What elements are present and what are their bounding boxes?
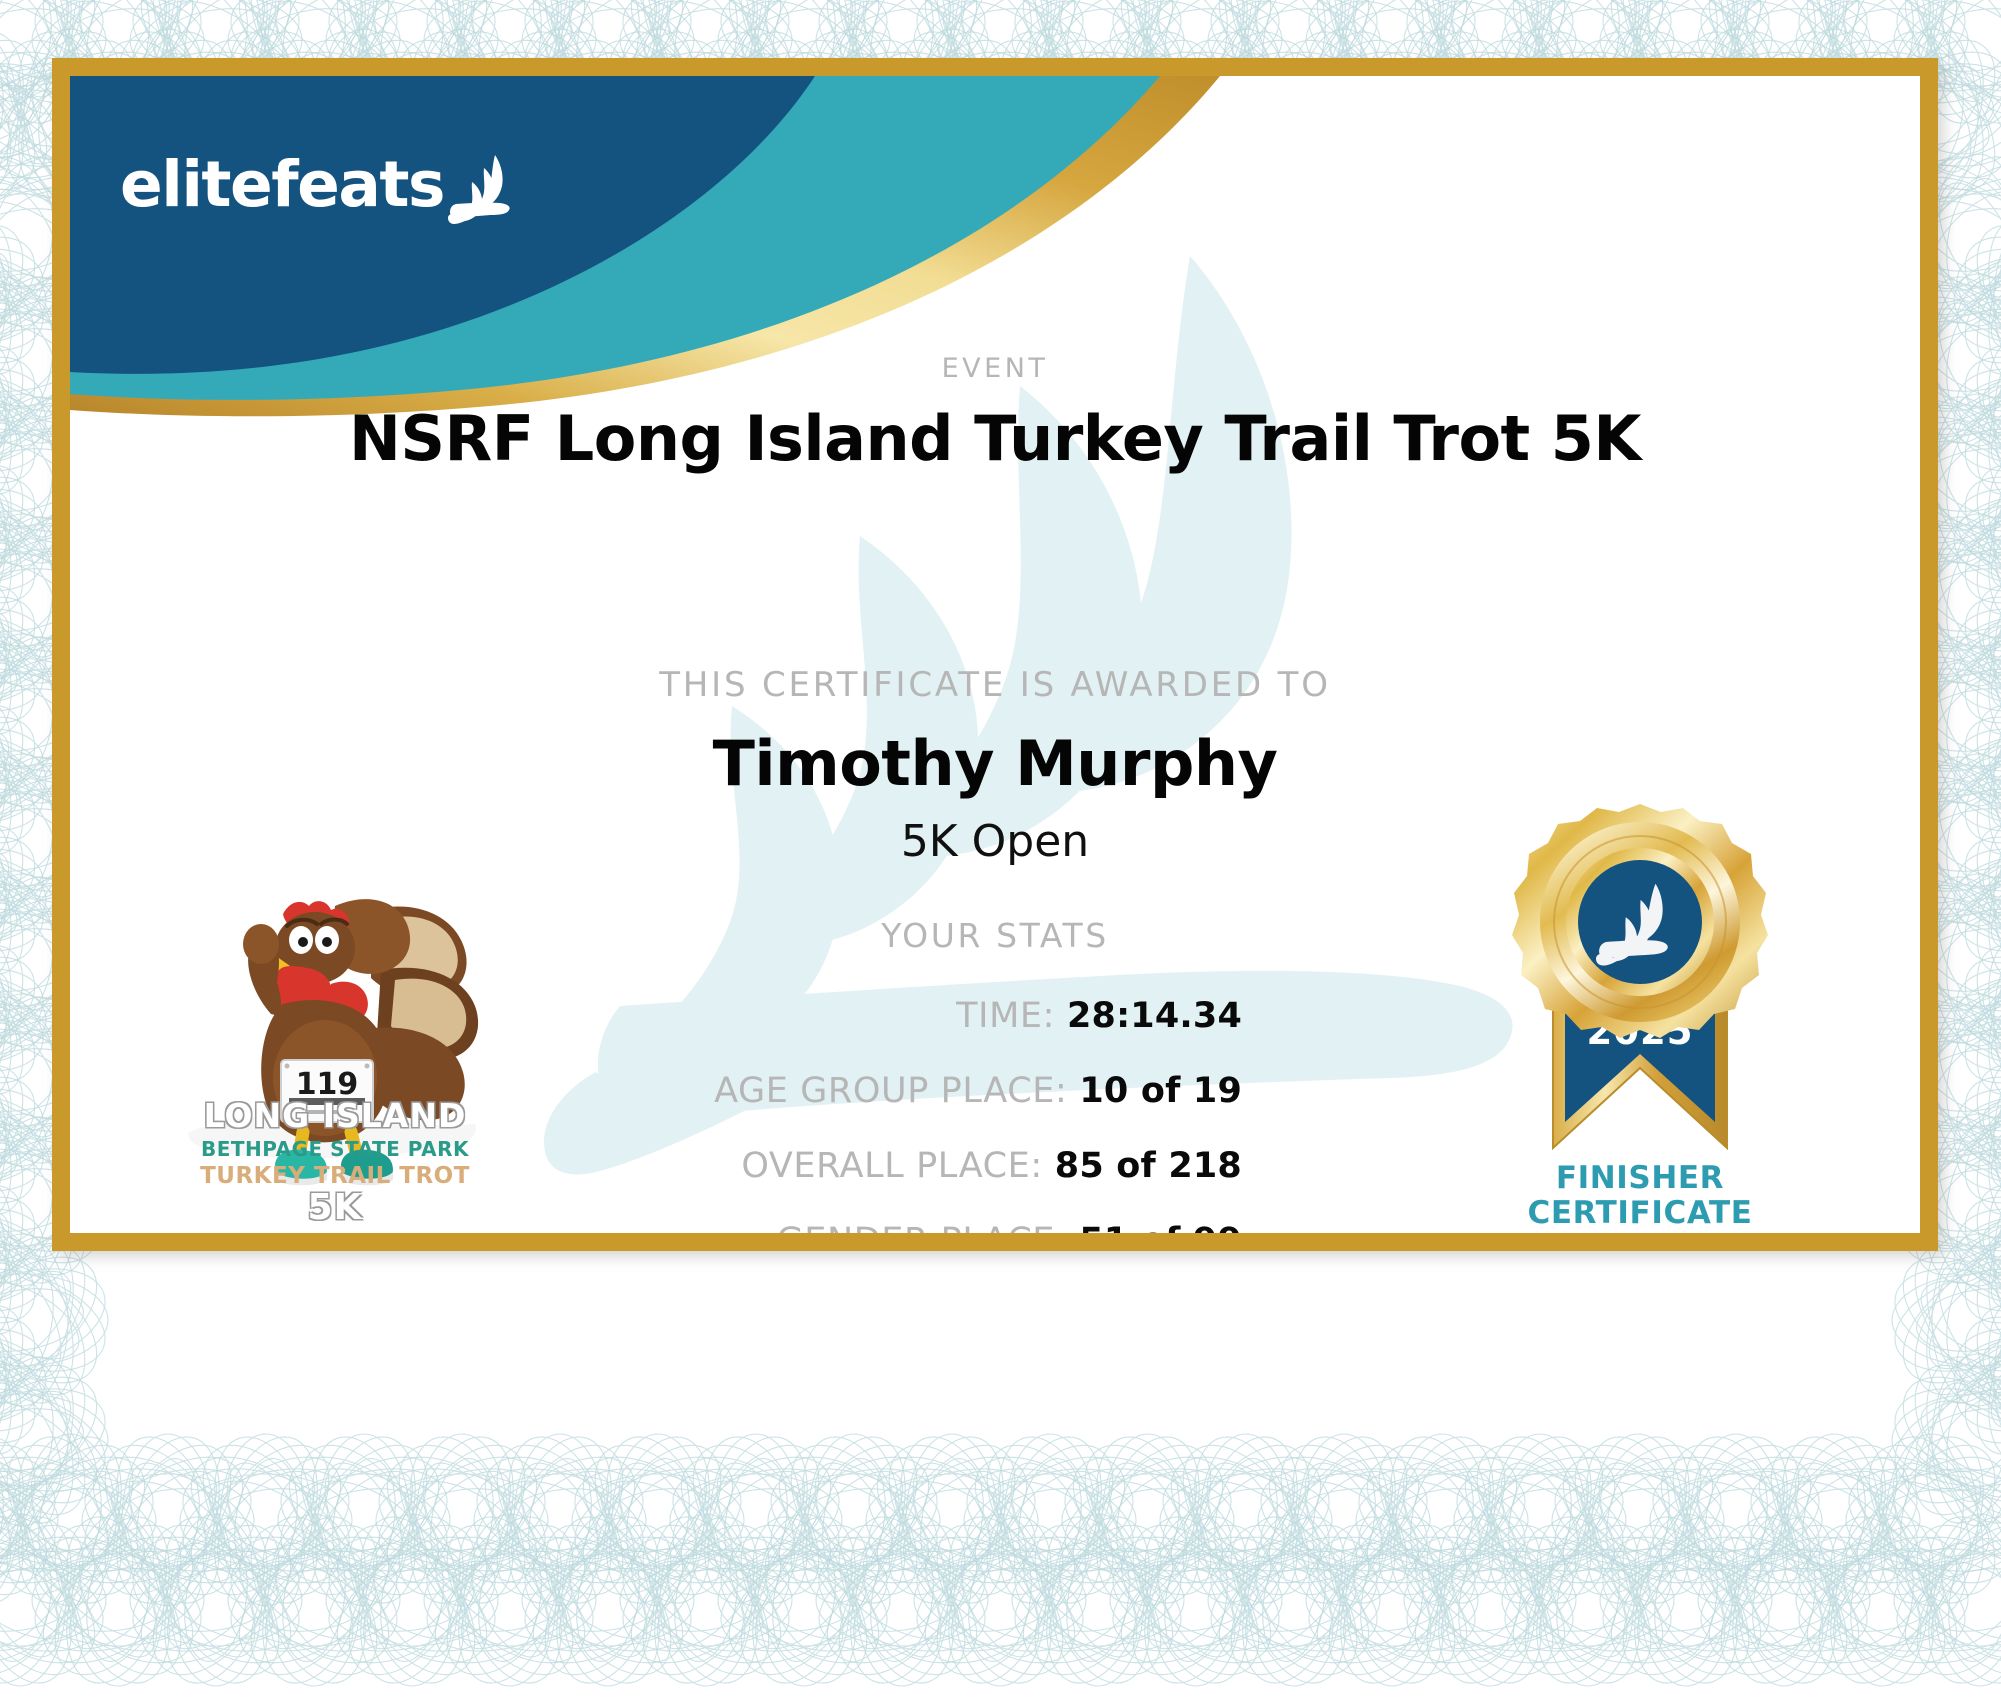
stat-value: 51 of 99 (1079, 1221, 1242, 1233)
race-logo-line-1: LONG ISLAND (175, 1096, 495, 1135)
certificate-content: EVENT NSRF Long Island Turkey Trail Trot… (70, 76, 1920, 1233)
stat-key: TIME: (956, 996, 1055, 1036)
badge-caption: FINISHER CERTIFICATE (1465, 1161, 1815, 1230)
race-logo-lettering: LONG ISLAND BETHPAGE STATE PARK TURKEY T… (175, 1096, 495, 1228)
race-logo-line-2: BETHPAGE STATE PARK (175, 1137, 495, 1161)
event-label: EVENT (70, 353, 1920, 384)
badge-caption-line-2: CERTIFICATE (1465, 1196, 1815, 1231)
stat-value: 85 of 218 (1055, 1146, 1242, 1186)
stat-key: OVERALL PLACE: (741, 1146, 1042, 1186)
finisher-medal-badge: 2025 (1465, 776, 1815, 1226)
stat-value: 28:14.34 (1067, 996, 1242, 1036)
stat-key: AGE GROUP PLACE: (714, 1071, 1067, 1111)
race-logo-line-4: 5K (175, 1187, 495, 1228)
race-logo-line-3: TURKEY TRAIL TROT (175, 1163, 495, 1189)
badge-caption-line-1: FINISHER (1465, 1161, 1815, 1196)
stat-key: GENDER PLACE: (777, 1221, 1068, 1233)
event-title: NSRF Long Island Turkey Trail Trot 5K (70, 402, 1920, 475)
medal (1512, 804, 1768, 1048)
certificate-body: elitefeats EVENT NSRF Long Island Turkey… (70, 76, 1920, 1233)
stat-value: 10 of 19 (1079, 1071, 1242, 1111)
certificate-page: elitefeats EVENT NSRF Long Island Turkey… (0, 0, 2001, 1700)
awarded-to-label: THIS CERTIFICATE IS AWARDED TO (70, 665, 1920, 705)
